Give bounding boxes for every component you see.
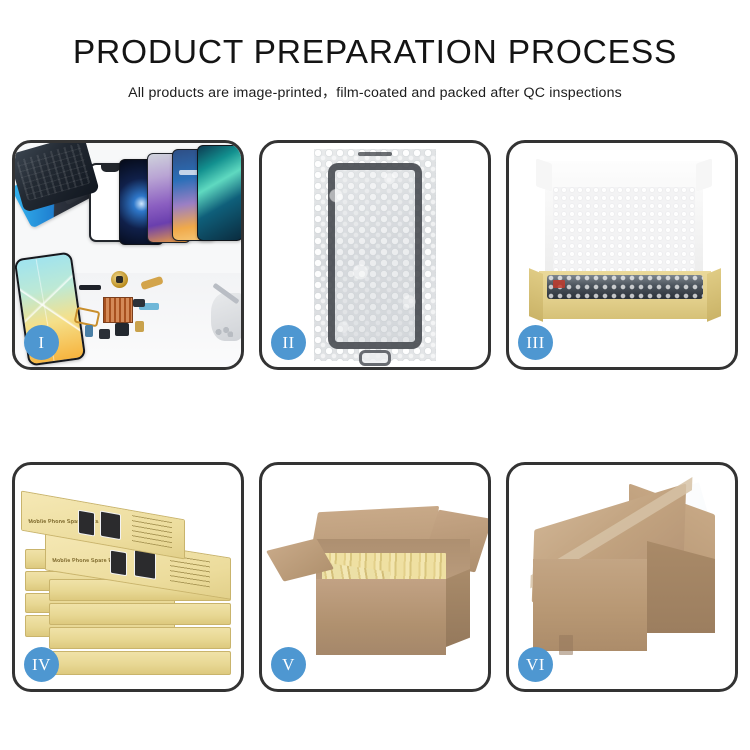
earpiece-slot-icon bbox=[358, 152, 392, 156]
loudspeaker-icon bbox=[79, 285, 101, 290]
retail-box-slab bbox=[49, 651, 231, 675]
box-artwork-phone-icon bbox=[100, 510, 121, 540]
tray-left-face bbox=[529, 268, 543, 322]
screen-assembly-icon bbox=[328, 163, 422, 349]
step-badge-5: V bbox=[271, 647, 306, 682]
carton-front-face bbox=[533, 559, 647, 651]
box-artwork-phone-icon bbox=[78, 510, 95, 537]
step-badge-6: VI bbox=[518, 647, 553, 682]
button-component-icon bbox=[85, 325, 93, 337]
page-title: PRODUCT PREPARATION PROCESS bbox=[0, 34, 750, 73]
foam-padding-icon bbox=[553, 187, 695, 279]
button-component-icon bbox=[99, 329, 110, 339]
vibration-motor-icon bbox=[111, 271, 128, 288]
screws-icon bbox=[215, 327, 233, 337]
process-step-3[interactable]: III bbox=[506, 140, 738, 370]
button-component-icon bbox=[133, 299, 145, 307]
process-step-1[interactable]: I bbox=[12, 140, 244, 370]
carton-hand-hole bbox=[559, 635, 573, 655]
retail-box-slab bbox=[49, 627, 231, 649]
logic-chip-icon bbox=[103, 297, 133, 323]
process-step-6[interactable]: VI bbox=[506, 462, 738, 692]
header: PRODUCT PREPARATION PROCESS All products… bbox=[0, 34, 750, 102]
carton-front-face bbox=[316, 579, 446, 655]
page-subtitle: All products are image-printed，film-coat… bbox=[0, 82, 750, 102]
step-badge-2: II bbox=[271, 325, 306, 360]
process-step-5[interactable]: V bbox=[259, 462, 491, 692]
product-preparation-infographic: PRODUCT PREPARATION PROCESS All products… bbox=[0, 0, 750, 750]
tray-right-face bbox=[707, 268, 721, 322]
retail-box-slab bbox=[49, 603, 231, 625]
step-badge-1: I bbox=[24, 325, 59, 360]
button-component-icon bbox=[115, 323, 129, 336]
process-step-grid: I II bbox=[12, 140, 738, 692]
box-artwork-phone-icon bbox=[110, 550, 127, 577]
button-component-icon bbox=[135, 321, 144, 332]
retail-box-stack: Mobile Phone Spare Parts Mobile Phone Sp… bbox=[21, 491, 241, 679]
bubble-wrap-icon bbox=[314, 149, 436, 361]
carton-side-face bbox=[446, 569, 470, 647]
step-badge-4: IV bbox=[24, 647, 59, 682]
wrapped-screen-icon bbox=[547, 275, 703, 299]
disassembled-back-housing-icon bbox=[15, 143, 100, 213]
teal-swirl-phone-icon bbox=[197, 145, 241, 241]
sealed-carton bbox=[533, 495, 721, 665]
process-step-2[interactable]: II bbox=[259, 140, 491, 370]
open-carton bbox=[280, 507, 476, 657]
step-badge-3: III bbox=[518, 325, 553, 360]
process-step-4[interactable]: Mobile Phone Spare Parts Mobile Phone Sp… bbox=[12, 462, 244, 692]
